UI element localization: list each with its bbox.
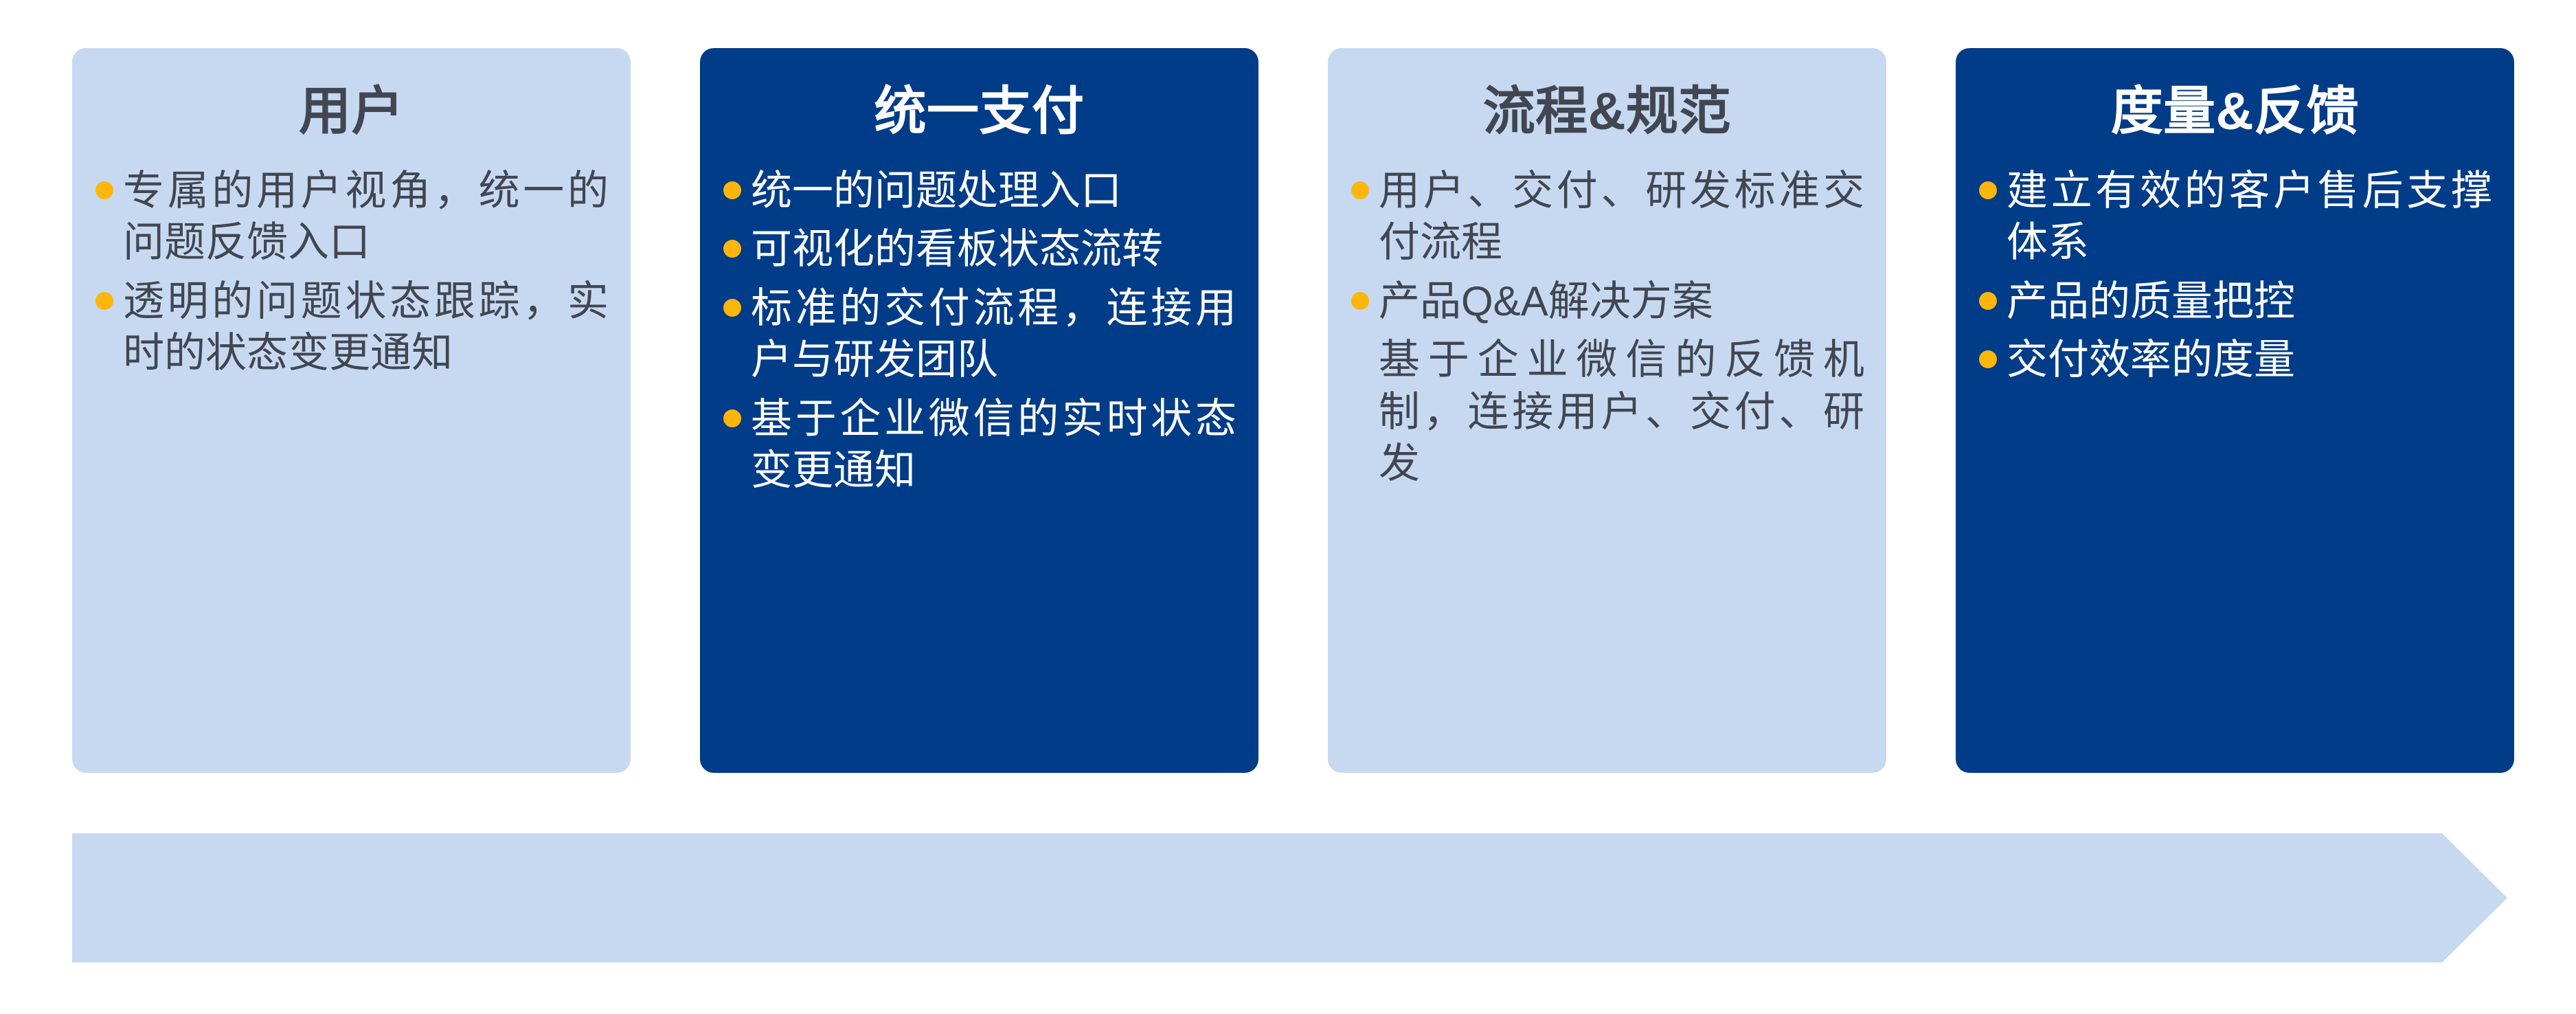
bullet-text: 标准的交付流程，连接用户与研发团队 — [751, 282, 1236, 386]
slide-canvas: 用户专属的用户视角，统一的问题反馈入口透明的问题状态跟踪，实时的状态变更通知统一… — [0, 0, 2576, 1014]
bullet-text: 建立有效的客户售后支撑体系 — [2007, 165, 2492, 269]
bullet-dot-icon — [723, 181, 741, 199]
bullet-text: 可视化的看板状态流转 — [751, 223, 1236, 275]
bullet-item: 可视化的看板状态流转 — [723, 223, 1236, 275]
bullet-text: 基于企业微信的实时状态变更通知 — [751, 393, 1236, 497]
process-arrow-banner — [72, 833, 2507, 962]
bullet-text: 统一的问题处理入口 — [751, 165, 1236, 217]
bullet-dot-icon — [723, 409, 741, 427]
bullet-dot-icon — [1351, 292, 1369, 310]
bullet-dot-icon — [723, 299, 741, 317]
card-process-standard[interactable]: 流程&规范用户、交付、研发标准交付流程产品Q&A解决方案基于企业微信的反馈机制，… — [1328, 48, 1886, 773]
bullet-text: 透明的问题状态跟踪，实时的状态变更通知 — [123, 275, 609, 379]
bullet-item: 基于企业微信的实时状态变更通知 — [723, 393, 1236, 497]
bullet-item: 用户、交付、研发标准交付流程 — [1351, 165, 1864, 269]
bullet-item: 基于企业微信的反馈机制，连接用户、交付、研发 — [1351, 334, 1864, 490]
card-metrics-feedback[interactable]: 度量&反馈建立有效的客户售后支撑体系产品的质量把控交付效率的度量 — [1956, 48, 2514, 773]
bullet-item: 统一的问题处理入口 — [723, 165, 1236, 217]
bullet-item: 产品Q&A解决方案 — [1351, 275, 1864, 328]
card-unified-payment[interactable]: 统一支付统一的问题处理入口可视化的看板状态流转标准的交付流程，连接用户与研发团队… — [700, 48, 1258, 773]
card-title: 度量&反馈 — [1956, 85, 2514, 139]
bullet-dot-icon — [95, 181, 113, 199]
bullet-item: 标准的交付流程，连接用户与研发团队 — [723, 282, 1236, 386]
bullet-text: 产品的质量把控 — [2007, 275, 2492, 328]
bullet-dot-icon — [95, 292, 113, 310]
bullet-text: 交付效率的度量 — [2007, 334, 2492, 386]
bullet-dot-icon — [1351, 181, 1369, 199]
card-title: 统一支付 — [700, 85, 1258, 139]
bullet-text: 专属的用户视角，统一的问题反馈入口 — [123, 165, 609, 269]
bullet-dot-icon — [723, 240, 741, 258]
arrow-right-shape — [72, 833, 2507, 962]
card-bullet-list: 建立有效的客户售后支撑体系产品的质量把控交付效率的度量 — [1956, 165, 2514, 386]
bullet-dot-icon — [1979, 292, 1997, 310]
bullet-item: 专属的用户视角，统一的问题反馈入口 — [95, 165, 609, 269]
bullet-text: 用户、交付、研发标准交付流程 — [1379, 165, 1864, 269]
bullet-item: 建立有效的客户售后支撑体系 — [1979, 165, 2492, 269]
cards-row: 用户专属的用户视角，统一的问题反馈入口透明的问题状态跟踪，实时的状态变更通知统一… — [72, 48, 2514, 773]
bullet-item: 透明的问题状态跟踪，实时的状态变更通知 — [95, 275, 609, 379]
card-title: 用户 — [72, 85, 631, 139]
bullet-text: 基于企业微信的反馈机制，连接用户、交付、研发 — [1379, 334, 1864, 490]
card-title: 流程&规范 — [1328, 85, 1886, 139]
bullet-item: 交付效率的度量 — [1979, 334, 2492, 386]
card-user[interactable]: 用户专属的用户视角，统一的问题反馈入口透明的问题状态跟踪，实时的状态变更通知 — [72, 48, 631, 773]
card-bullet-list: 专属的用户视角，统一的问题反馈入口透明的问题状态跟踪，实时的状态变更通知 — [72, 165, 631, 379]
card-bullet-list: 用户、交付、研发标准交付流程产品Q&A解决方案基于企业微信的反馈机制，连接用户、… — [1328, 165, 1886, 491]
bullet-dot-icon — [1979, 181, 1997, 199]
bullet-spacer — [1351, 350, 1369, 368]
bullet-text: 产品Q&A解决方案 — [1379, 275, 1864, 328]
bullet-dot-icon — [1979, 350, 1997, 368]
card-bullet-list: 统一的问题处理入口可视化的看板状态流转标准的交付流程，连接用户与研发团队基于企业… — [700, 165, 1258, 497]
bullet-item: 产品的质量把控 — [1979, 275, 2492, 328]
